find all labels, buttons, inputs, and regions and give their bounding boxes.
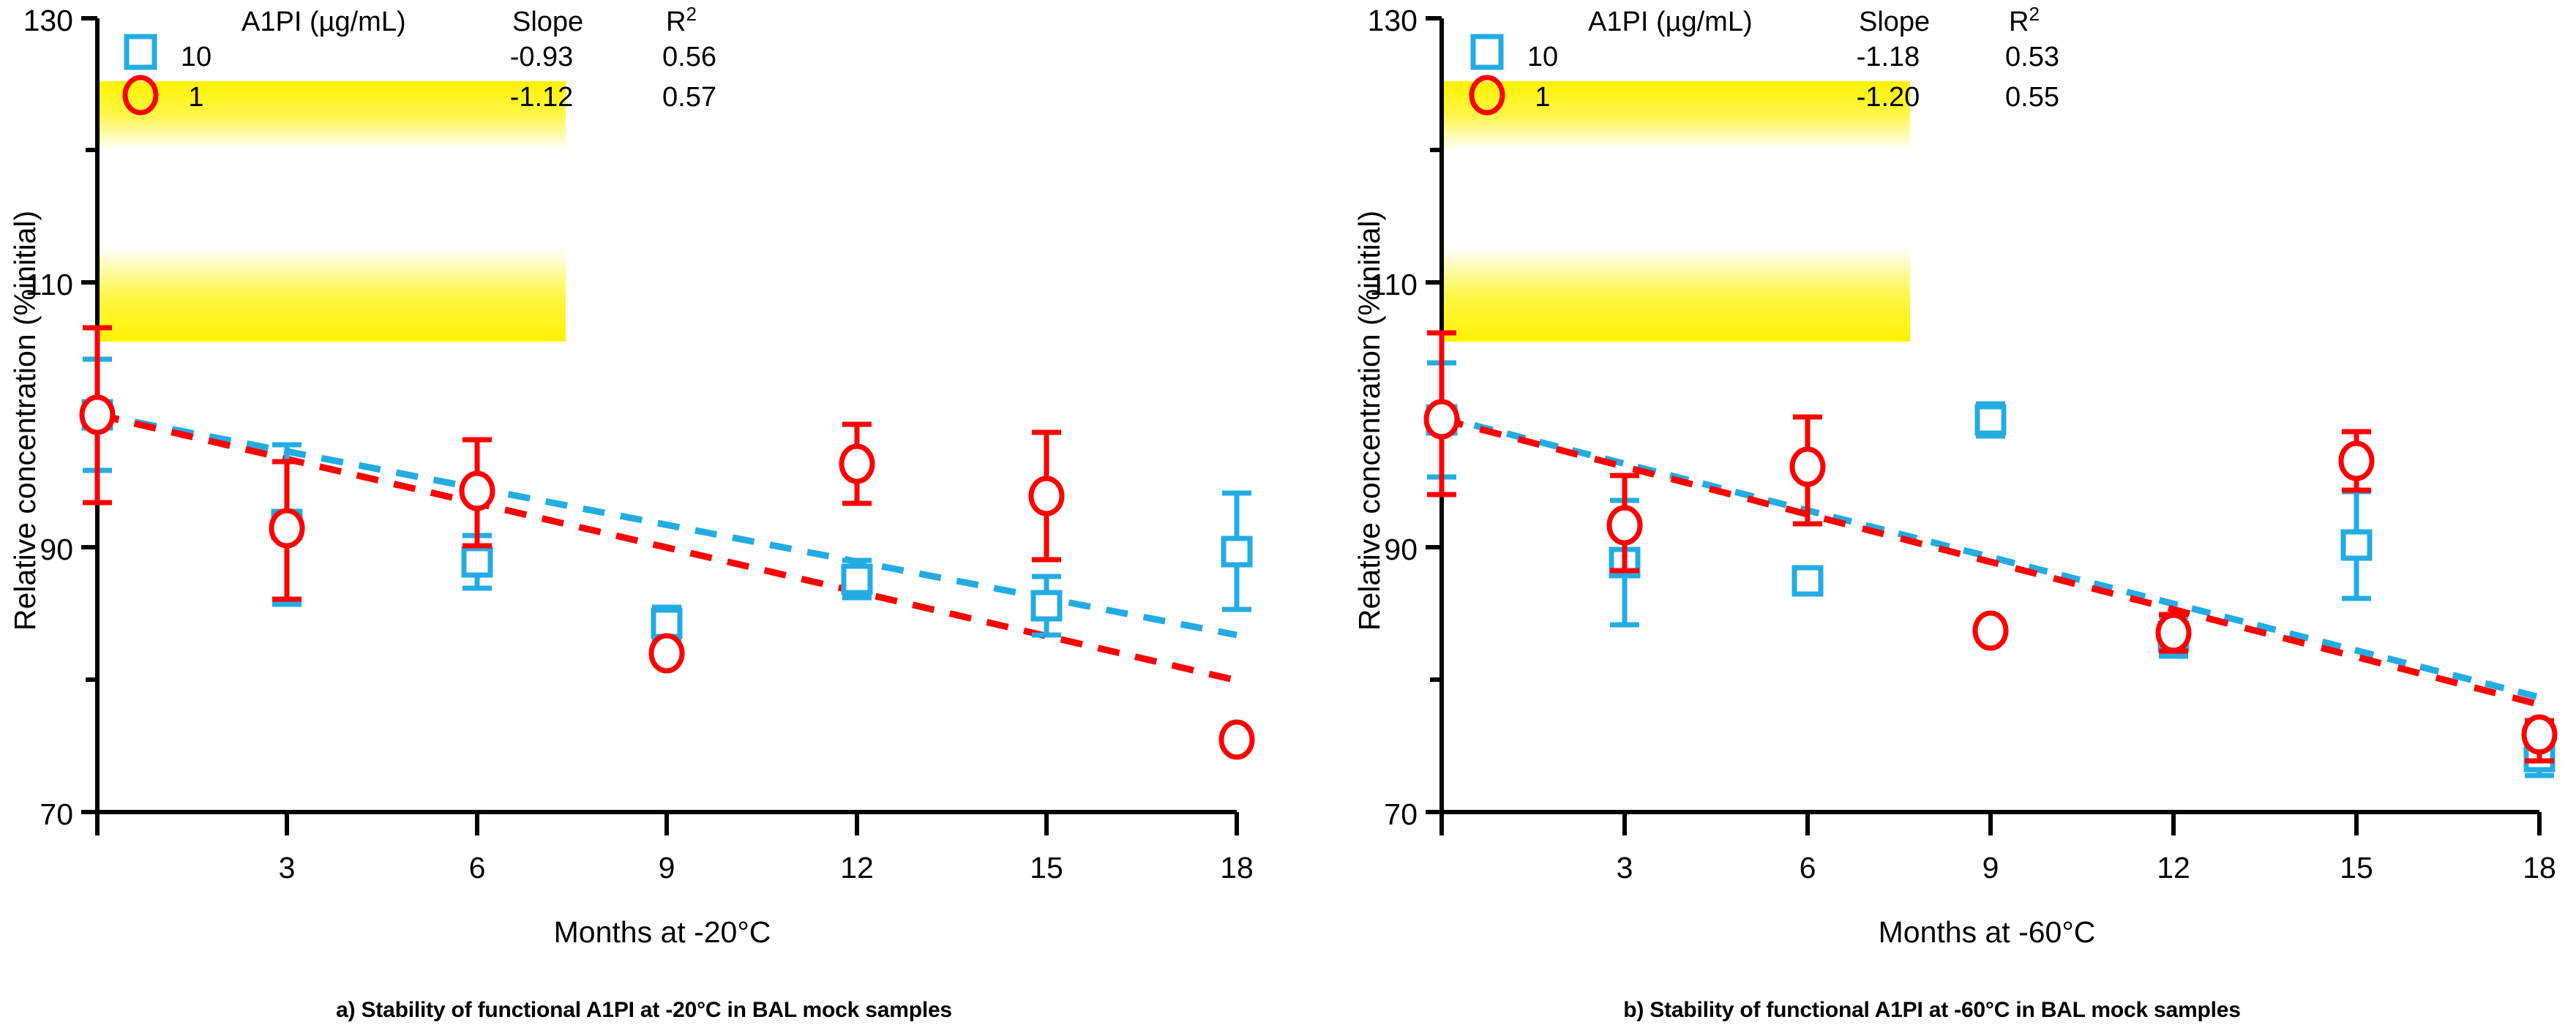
- data-point: [1792, 417, 1823, 524]
- x-tick-15: 15: [2340, 851, 2373, 884]
- y-tick-70: 70: [40, 797, 73, 831]
- legend-r2-10: 0.56: [662, 42, 716, 72]
- panel-b-x-axis: 3 6 9 12 15 18 Months at -60°C: [1442, 812, 2556, 949]
- legend-slope-10: -1.18: [1857, 42, 1920, 72]
- panel-b-caption: b) Stability of functional A1PI at -60°C…: [1288, 998, 2576, 1023]
- data-point: [272, 462, 302, 599]
- panel-a-series-1: [82, 328, 1252, 757]
- legend-header-series: A1PI (µg/mL): [1588, 7, 1753, 37]
- panel-b-bands: [1442, 81, 1910, 342]
- legend-slope-1: -1.20: [1857, 82, 1920, 113]
- data-point: [1976, 404, 2005, 436]
- figure-root: 130 110 90 70 Relative concentration (%i…: [0, 0, 2576, 1033]
- legend-label-10: 10: [181, 42, 211, 72]
- upper-tolerance-band: [97, 81, 566, 151]
- y-tick-90: 90: [40, 533, 73, 566]
- data-point: [1031, 432, 1062, 560]
- panel-a-bands: [97, 81, 566, 342]
- legend-header-r2-sup: 2: [2029, 3, 2039, 25]
- data-point: [1222, 493, 1251, 609]
- panel-a-y-axis-title: Relative concentration (%initial): [8, 211, 42, 631]
- y-tick-90: 90: [1384, 533, 1418, 566]
- x-tick-12: 12: [840, 851, 874, 884]
- x-tick-3: 3: [279, 851, 296, 884]
- panel-b-series-10: [1427, 363, 2554, 775]
- y-tick-130: 130: [1368, 4, 1418, 37]
- panel-b-trendlines: [1442, 417, 2539, 705]
- legend-slope-1: -1.12: [510, 82, 574, 113]
- x-tick-12: 12: [2157, 851, 2190, 884]
- x-tick-15: 15: [1030, 851, 1063, 884]
- legend-marker-square: [1473, 37, 1501, 67]
- upper-tolerance-band: [1442, 81, 1910, 151]
- legend-header-r2: R2: [666, 3, 697, 37]
- x-tick-9: 9: [1982, 851, 1999, 884]
- data-point: [82, 328, 113, 503]
- lower-tolerance-band: [1442, 247, 1910, 342]
- x-tick-18: 18: [1220, 851, 1254, 884]
- panel-b-y-axis-title: Relative concentration (%initial): [1352, 211, 1386, 631]
- legend-header-slope: Slope: [1859, 7, 1930, 37]
- data-point: [842, 560, 872, 598]
- panel-a-caption: a) Stability of functional A1PI at -20°C…: [0, 998, 1288, 1023]
- data-point: [1032, 576, 1061, 635]
- data-point: [462, 440, 493, 546]
- legend-r2-1: 0.57: [662, 82, 716, 113]
- panel-b-series-1: [1426, 333, 2555, 761]
- data-point: [1793, 568, 1822, 594]
- legend-header-series: A1PI (µg/mL): [241, 7, 406, 37]
- x-tick-6: 6: [469, 851, 486, 884]
- legend-header-r2-base: R: [2009, 7, 2029, 37]
- panel-a-x-axis: 3 6 9 12 15 18 Months at -20°C: [97, 812, 1254, 949]
- x-tick-3: 3: [1617, 851, 1633, 884]
- x-tick-9: 9: [659, 851, 675, 884]
- data-point: [651, 636, 682, 671]
- data-point: [2158, 615, 2189, 651]
- panel-b-chart: 130 110 90 70 Relative concentration (%i…: [1288, 0, 2576, 980]
- legend-header-slope: Slope: [512, 7, 583, 37]
- legend-slope-10: -0.93: [510, 42, 574, 72]
- panel-b: 130 110 90 70 Relative concentration (%i…: [1288, 0, 2576, 1033]
- panel-a-chart: 130 110 90 70 Relative concentration (%i…: [0, 0, 1288, 980]
- y-tick-70: 70: [1384, 797, 1418, 831]
- panel-a-x-axis-title: Months at -20°C: [554, 915, 771, 949]
- legend-r2-10: 0.53: [2005, 42, 2059, 72]
- data-point: [2342, 492, 2371, 598]
- lower-tolerance-band: [97, 247, 566, 342]
- legend-header-r2-base: R: [666, 7, 686, 37]
- data-point: [1975, 613, 2006, 648]
- legend-label-1: 1: [188, 82, 203, 113]
- legend-header-r2: R2: [2009, 3, 2040, 37]
- data-point: [1426, 333, 1457, 495]
- legend-label-10: 10: [1527, 42, 1558, 72]
- panel-a: 130 110 90 70 Relative concentration (%i…: [0, 0, 1288, 1033]
- x-tick-6: 6: [1800, 851, 1816, 884]
- y-tick-130: 130: [23, 4, 73, 37]
- panel-b-x-axis-title: Months at -60°C: [1879, 915, 2096, 949]
- legend-label-1: 1: [1535, 82, 1550, 113]
- data-point: [1221, 722, 1252, 757]
- legend-header-r2-sup: 2: [686, 3, 696, 25]
- legend-r2-1: 0.55: [2005, 82, 2059, 113]
- x-tick-18: 18: [2523, 851, 2556, 884]
- legend-marker-square: [127, 37, 154, 67]
- trendline-series-1: [1442, 419, 2539, 705]
- data-point: [2341, 432, 2372, 490]
- trendline-series-10: [97, 415, 1237, 635]
- panel-a-series-10: [83, 359, 1251, 639]
- data-point: [842, 424, 872, 503]
